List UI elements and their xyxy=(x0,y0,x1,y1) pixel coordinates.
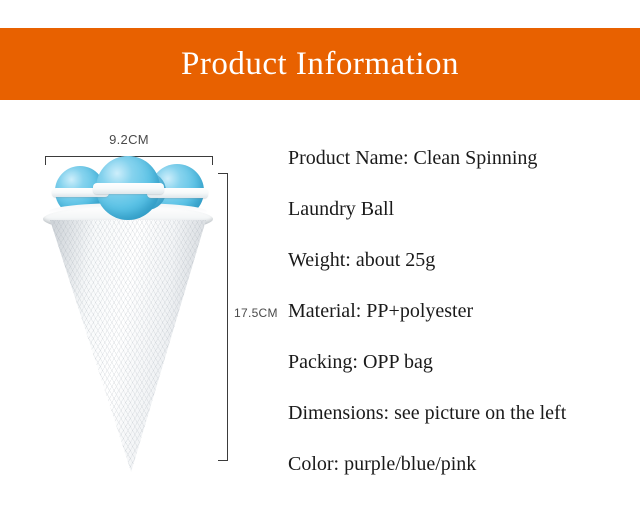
page-title: Product Information xyxy=(0,28,640,100)
laundry-ball-center-band xyxy=(93,183,164,194)
width-dimension-label: 9.2CM xyxy=(45,132,213,147)
spec-line: Product Name: Clean Spinning xyxy=(288,143,632,194)
height-dimension-bracket xyxy=(218,173,228,461)
header-banner: Product Information xyxy=(0,28,640,100)
product-spec-list: Product Name: Clean Spinning Laundry Bal… xyxy=(288,143,632,500)
mesh-cone-shading xyxy=(50,220,206,472)
spec-line: Material: PP+polyester xyxy=(288,296,632,347)
spec-line: Weight: about 25g xyxy=(288,245,632,296)
spec-line: Dimensions: see picture on the left xyxy=(288,398,632,449)
spec-line: Laundry Ball xyxy=(288,194,632,245)
spec-line: Packing: OPP bag xyxy=(288,347,632,398)
spec-line: Color: purple/blue/pink xyxy=(288,449,632,500)
product-image-panel: 9.2CM 17.5CM xyxy=(0,110,280,490)
height-dimension-label: 17.5CM xyxy=(234,306,278,320)
